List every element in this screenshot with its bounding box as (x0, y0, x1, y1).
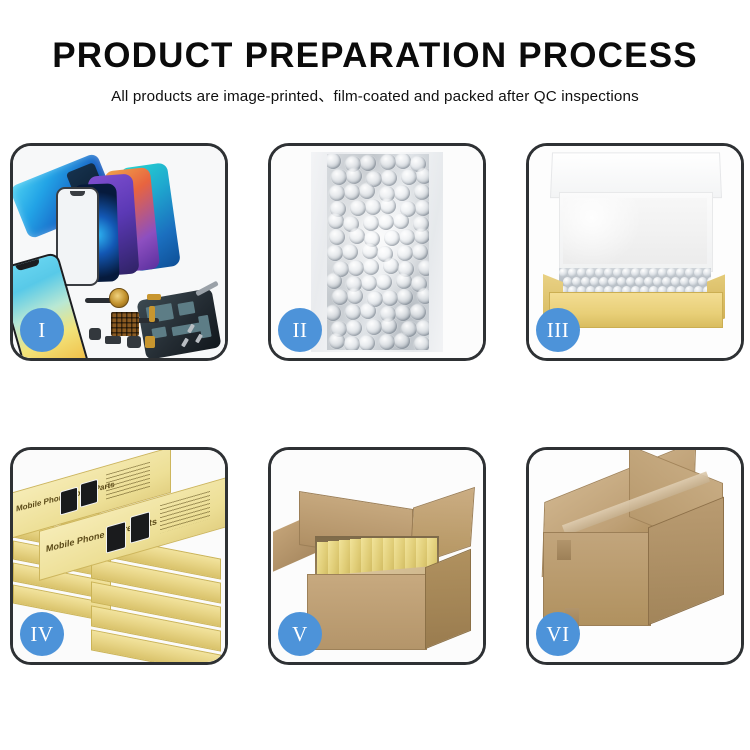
bubble (689, 277, 698, 286)
bubble (658, 268, 667, 277)
bubble (363, 259, 379, 275)
bubble (380, 198, 396, 214)
bubble (680, 277, 689, 286)
process-step-panel-3: III (526, 143, 744, 361)
retail-box-screen-art-front-2 (130, 511, 150, 544)
bubble (667, 268, 676, 277)
bubble (703, 268, 711, 277)
inner-box-foam-liner (563, 198, 707, 264)
step-badge-4: IV (20, 612, 64, 656)
bubble (694, 268, 703, 277)
spare-part-camera-module (89, 328, 101, 340)
header: PRODUCT PREPARATION PROCESS All products… (0, 0, 750, 132)
bubble (604, 268, 613, 277)
bubble (359, 335, 375, 351)
bubble (393, 213, 409, 229)
bubble (685, 268, 694, 277)
bubble (350, 200, 366, 216)
bubble (348, 260, 364, 276)
bubble (396, 273, 412, 289)
bubble (327, 154, 341, 169)
bubble (418, 260, 429, 276)
retail-box-screen-art-front-1 (106, 521, 126, 554)
bubble (381, 318, 397, 334)
bubble (379, 334, 395, 350)
bubble (568, 268, 577, 277)
bubble (412, 244, 428, 260)
process-step-panel-6: VI (526, 447, 744, 665)
spare-part-button-set (105, 336, 121, 344)
bubble (414, 184, 429, 200)
inner-box-bubble-contents (559, 268, 711, 294)
bubble (671, 277, 680, 286)
bubble (359, 183, 375, 199)
bubble (360, 303, 376, 319)
bubble (613, 268, 622, 277)
bubble (381, 170, 397, 186)
page-title: PRODUCT PREPARATION PROCESS (0, 36, 750, 76)
bubble (414, 228, 429, 244)
step-badge-1: I (20, 308, 64, 352)
process-step-panel-1: I (10, 143, 228, 361)
bubble (329, 229, 345, 245)
bubble (676, 268, 685, 277)
bubble (327, 273, 342, 289)
sealed-carton-tab-upper (557, 540, 571, 560)
bubble (644, 277, 653, 286)
bubble (346, 320, 362, 336)
retail-box-spec-lines-front (160, 491, 210, 533)
bubble (332, 289, 348, 305)
bubble (361, 275, 377, 291)
bubble (590, 277, 599, 286)
bubble (380, 154, 396, 170)
bubble-wrap-bubbles (327, 154, 429, 350)
bubble (635, 277, 644, 286)
bubble (331, 169, 347, 185)
bubble (344, 336, 360, 351)
spare-part-taptic-engine (127, 336, 141, 348)
bubble (559, 268, 568, 277)
process-step-grid: I II III (10, 143, 741, 683)
bubble (653, 277, 662, 286)
bubble (329, 333, 345, 349)
bubble (577, 268, 586, 277)
spare-part-battery-tab (145, 336, 155, 348)
bubble (349, 228, 365, 244)
bubble (376, 274, 392, 290)
bubble (595, 268, 604, 277)
spare-part-gold-connector-2 (149, 306, 155, 322)
step-badge-6: VI (536, 612, 580, 656)
bubble (366, 319, 382, 335)
bubble (394, 333, 410, 349)
bubble (626, 277, 635, 286)
bubble (397, 245, 413, 261)
bubble (347, 288, 363, 304)
step-badge-2: II (278, 308, 322, 352)
bubble (382, 290, 398, 306)
bubble (365, 199, 381, 215)
step-badge-5: V (278, 612, 322, 656)
bubble (327, 245, 343, 261)
bubble (572, 277, 581, 286)
bubble (417, 288, 429, 304)
bubble (362, 243, 378, 259)
bubble (622, 268, 631, 277)
bubble (399, 229, 415, 245)
bubble (328, 213, 344, 229)
bubble (649, 268, 658, 277)
bubble (360, 155, 376, 171)
bubble (395, 154, 411, 169)
bubble (394, 185, 410, 201)
bubble (416, 320, 429, 336)
process-step-panel-2: II (268, 143, 486, 361)
spare-part-speaker-coil (109, 288, 129, 308)
bubble (631, 268, 640, 277)
retail-box-screen-art-rear-1 (60, 486, 78, 515)
bubble (378, 214, 394, 230)
bubble (329, 185, 345, 201)
spare-part-chip-grid (111, 312, 139, 336)
carton-front-wall (307, 574, 427, 650)
bubble (662, 277, 671, 286)
bubble (698, 277, 707, 286)
bubble (363, 215, 379, 231)
process-step-panel-5: V (268, 447, 486, 665)
retail-box-spec-lines-rear (106, 462, 150, 501)
bubble (346, 168, 362, 184)
bubble (581, 277, 590, 286)
bubble (383, 258, 399, 274)
bubble (401, 169, 417, 185)
process-step-panel-4: Mobile Phone Spare Parts Mobile Phone Sp… (10, 447, 228, 665)
bubble (608, 277, 617, 286)
retail-box-screen-art-rear-2 (80, 479, 98, 508)
bubble (563, 277, 572, 286)
bubble (410, 304, 426, 320)
bubble (327, 305, 341, 321)
bubble (395, 305, 411, 321)
spare-part-gold-connector-1 (147, 294, 161, 300)
bubble (384, 230, 400, 246)
page-subtitle: All products are image-printed、film-coat… (0, 84, 750, 106)
bubble (617, 277, 626, 286)
bubble (599, 277, 608, 286)
bubble (345, 304, 361, 320)
bubble (342, 244, 358, 260)
bubble (414, 336, 429, 351)
bubble (416, 168, 429, 184)
bubble (415, 200, 429, 216)
step-badge-3: III (536, 308, 580, 352)
bubble (640, 268, 649, 277)
bubble (586, 268, 595, 277)
bubble (344, 184, 360, 200)
bubble (397, 289, 413, 305)
